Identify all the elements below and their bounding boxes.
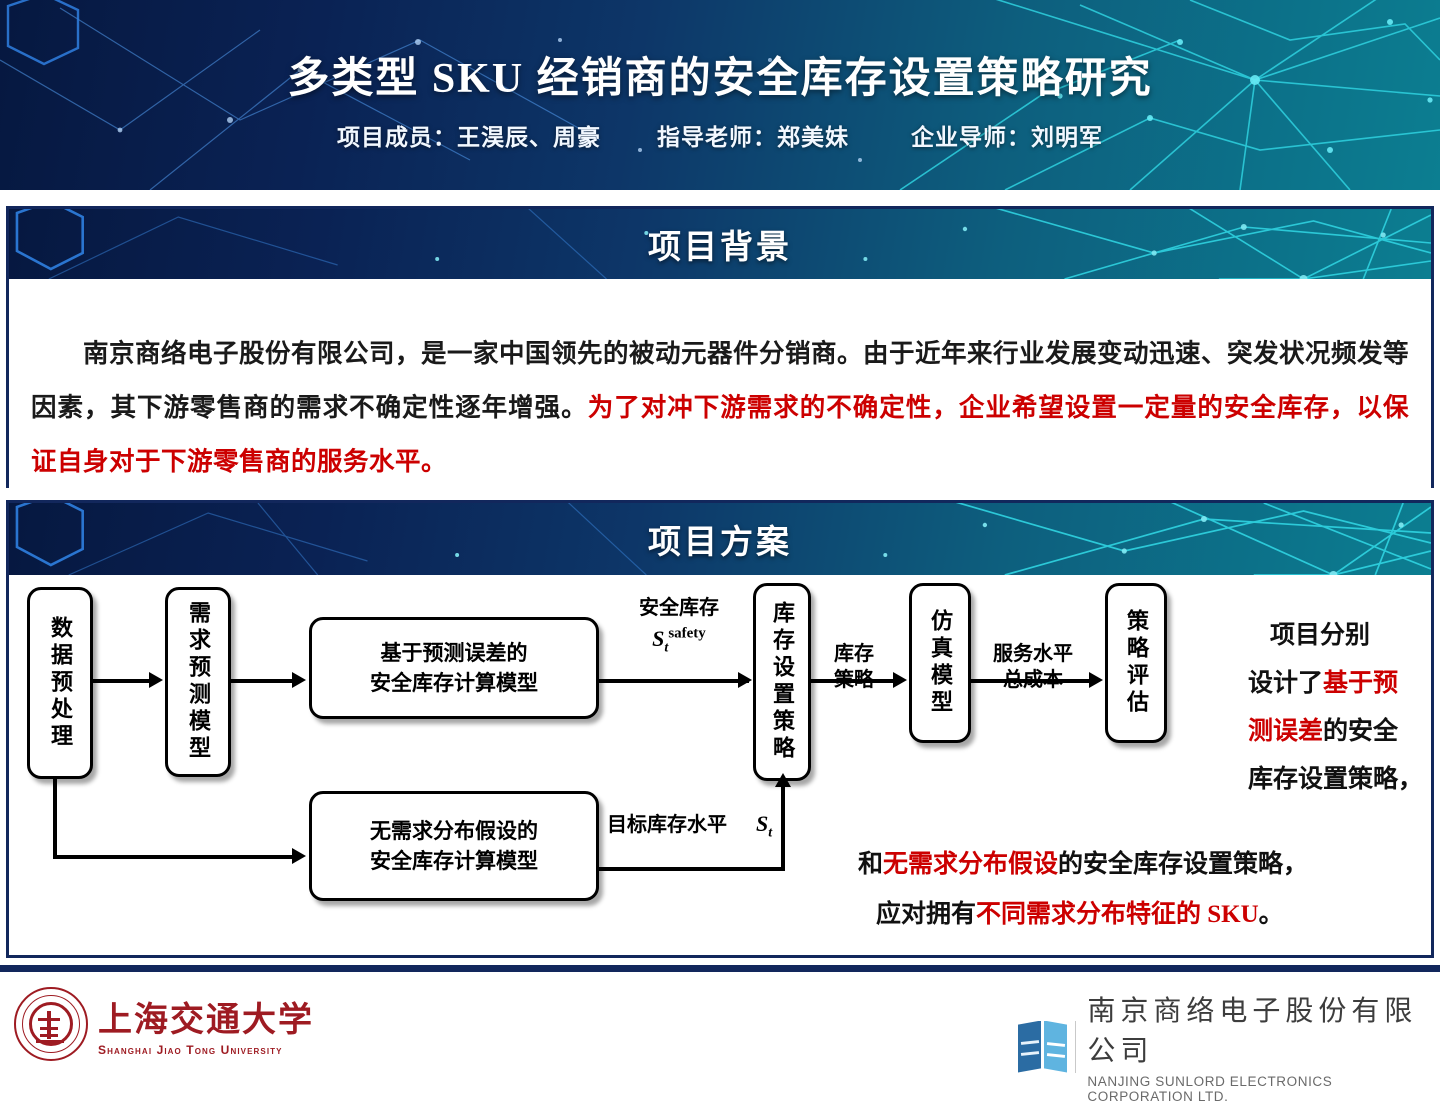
flow-node-simulation-model[interactable]: 仿真模型 <box>909 583 971 743</box>
footer-divider <box>0 965 1440 972</box>
flow-node-policy-evaluation[interactable]: 策略评估 <box>1105 583 1167 743</box>
section-background-title: 项目背景 <box>9 220 1431 268</box>
flow-label-safety-stock: 安全库存 Stsafety <box>609 595 749 662</box>
flow-label-inventory-policy: 库存 策略 <box>817 641 891 693</box>
poster-header: 多类型 SKU 经销商的安全库存设置策略研究 项目成员：王淏辰、周豪指导老师：郑… <box>0 0 1440 190</box>
project-members: 项目成员：王淏辰、周豪 <box>337 118 601 152</box>
poster-footer: 上海交通大学 Shanghai Jiao Tong University 南京商… <box>0 965 1440 1080</box>
section-background: 项目背景 南京商络电子股份有限公司，是一家中国领先的被动元器件分销商。由于近年来… <box>6 206 1434 488</box>
conclusion-bottom: 和无需求分布假设的安全库存设置策略， 应对拥有不同需求分布特征的 SKU。 <box>858 840 1432 940</box>
flow-label-target-level-symbol: St <box>756 811 772 836</box>
flow-edge-5a <box>599 867 785 871</box>
flow-node-forecast-error-model-line1: 基于预测误差的 <box>381 638 528 668</box>
section-plan-header: 项目方案 <box>9 503 1431 575</box>
sunlord-mark-icon <box>1018 1019 1063 1075</box>
flow-arrow-5 <box>775 773 791 787</box>
sjtu-text: 上海交通大学 Shanghai Jiao Tong University <box>98 992 314 1057</box>
flow-arrow-7 <box>1089 672 1103 688</box>
flow-node-demand-forecast-model[interactable]: 需求预测模型 <box>165 587 231 777</box>
flow-node-inventory-policy[interactable]: 库存设置策略 <box>753 583 811 781</box>
sunlord-logo: 南京商络电子股份有限公司 NANJING SUNLORD ELECTRONICS… <box>1018 989 1440 1104</box>
flow-arrow-2 <box>292 672 306 688</box>
flow-node-distribution-free-model-line1: 无需求分布假设的 <box>370 816 538 846</box>
flow-label-target-level-text: 目标库存水平 <box>607 814 727 836</box>
credits-row: 项目成员：王淏辰、周豪指导老师：郑美妹企业导师：刘明军 <box>0 118 1440 152</box>
flow-edge-2 <box>231 679 293 683</box>
flow-arrow-1 <box>149 672 163 688</box>
flow-arrow-6 <box>893 672 907 688</box>
advisor: 指导老师：郑美妹 <box>657 118 849 152</box>
sjtu-name-en: Shanghai Jiao Tong University <box>98 1043 314 1057</box>
flow-edge-3b <box>53 855 295 859</box>
conclusion-top-line-4: 库存设置策略， <box>1248 756 1434 804</box>
flow-node-forecast-error-model-line2: 安全库存计算模型 <box>370 668 538 698</box>
flow-arrow-3 <box>292 848 306 864</box>
section-background-body: 南京商络电子股份有限公司，是一家中国领先的被动元器件分销商。由于近年来行业发展变… <box>9 305 1431 505</box>
conclusion-top-line-3: 测误差的安全 <box>1248 708 1434 756</box>
background-paragraph: 南京商络电子股份有限公司，是一家中国领先的被动元器件分销商。由于近年来行业发展变… <box>9 305 1431 505</box>
sunlord-name-en: NANJING SUNLORD ELECTRONICS CORPORATION … <box>1087 1074 1440 1104</box>
sunlord-divider <box>1075 1021 1076 1073</box>
conclusion-bottom-line-2: 应对拥有不同需求分布特征的 SKU。 <box>858 890 1432 940</box>
poster-slide: 多类型 SKU 经销商的安全库存设置策略研究 项目成员：王淏辰、周豪指导老师：郑… <box>0 0 1440 1080</box>
section-plan-title: 项目方案 <box>9 515 1431 563</box>
conclusion-top: 项目分别 设计了基于预 测误差的安全 库存设置策略， <box>1248 612 1434 804</box>
flow-label-safety-stock-symbol: Stsafety <box>652 626 706 651</box>
flow-edge-3a <box>53 779 57 859</box>
flow-label-inventory-policy-line1: 库存 <box>834 643 874 665</box>
section-background-header: 项目背景 <box>9 209 1431 279</box>
sjtu-name-cn: 上海交通大学 <box>98 992 314 1041</box>
flow-node-forecast-error-model[interactable]: 基于预测误差的 安全库存计算模型 <box>309 617 599 719</box>
flow-label-safety-stock-text: 安全库存 <box>639 597 719 619</box>
sjtu-seal-icon <box>14 987 88 1061</box>
sjtu-logo: 上海交通大学 Shanghai Jiao Tong University <box>14 987 314 1061</box>
flow-label-service-cost: 服务水平 总成本 <box>975 641 1091 693</box>
conclusion-bottom-line-1: 和无需求分布假设的安全库存设置策略， <box>858 840 1432 890</box>
conclusion-top-line-1: 项目分别 <box>1248 612 1434 660</box>
flow-label-inventory-policy-line2: 策略 <box>834 669 874 691</box>
flow-edge-1 <box>93 679 151 683</box>
flow-arrow-4 <box>738 672 752 688</box>
flow-label-target-level: 目标库存水平 St <box>607 811 837 846</box>
flow-label-service-cost-line2: 总成本 <box>1003 669 1063 691</box>
conclusion-top-line-2: 设计了基于预 <box>1248 660 1434 708</box>
flow-node-distribution-free-model[interactable]: 无需求分布假设的 安全库存计算模型 <box>309 791 599 901</box>
flow-label-service-cost-line1: 服务水平 <box>993 643 1073 665</box>
sunlord-text: 南京商络电子股份有限公司 NANJING SUNLORD ELECTRONICS… <box>1087 989 1440 1104</box>
flow-node-distribution-free-model-line2: 安全库存计算模型 <box>370 846 538 876</box>
flow-node-data-preprocess[interactable]: 数据预处理 <box>27 587 93 779</box>
page-title: 多类型 SKU 经销商的安全库存设置策略研究 <box>0 44 1440 105</box>
enterprise-mentor: 企业导师：刘明军 <box>911 118 1103 152</box>
flow-edge-4 <box>599 679 749 683</box>
sunlord-name-cn: 南京商络电子股份有限公司 <box>1087 989 1440 1069</box>
